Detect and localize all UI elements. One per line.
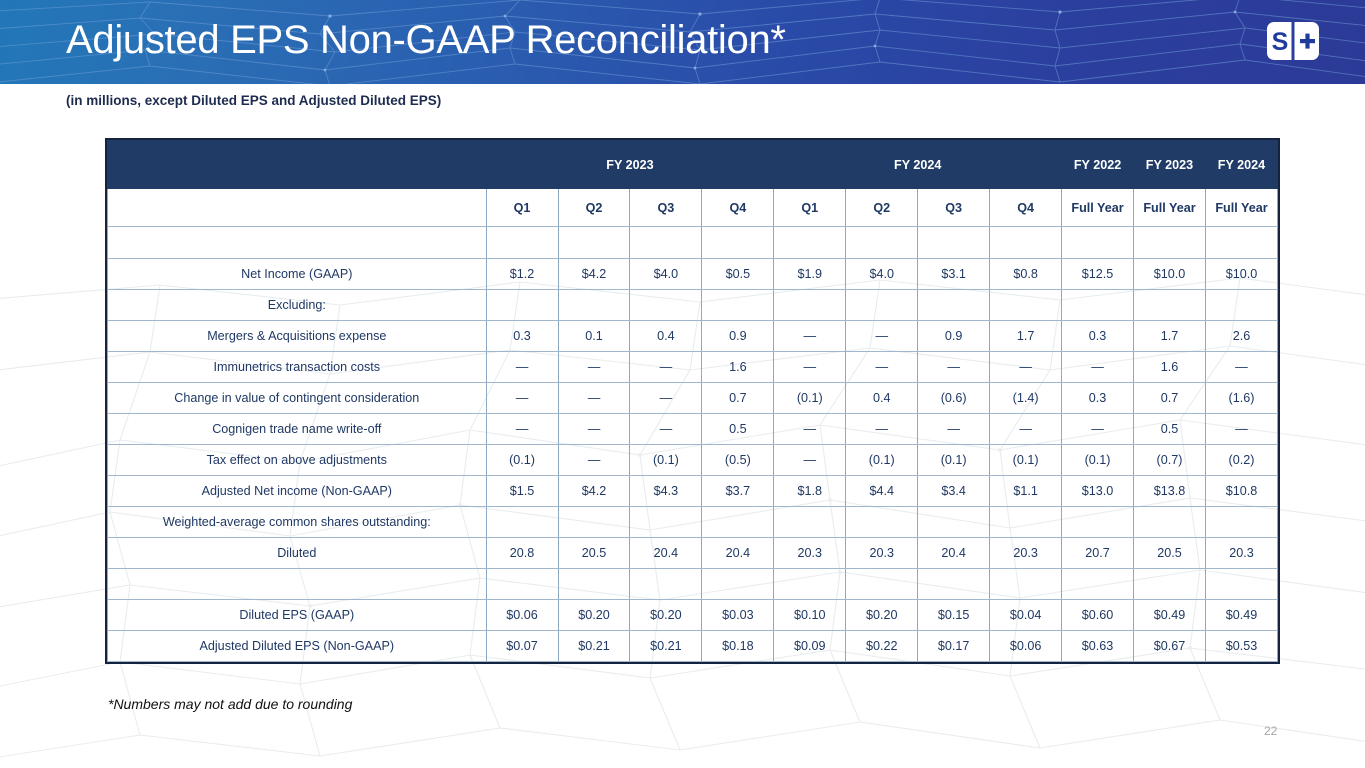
spacer-cell [702,227,774,259]
row-value-cell: $10.8 [1205,476,1277,507]
table-spacer-row [108,227,1278,259]
row-value-cell: — [486,352,558,383]
row-value-cell: $10.0 [1134,259,1206,290]
row-value-cell: — [1205,414,1277,445]
table-row: Diluted20.820.520.420.420.320.320.420.32… [108,538,1278,569]
row-value-cell: — [486,383,558,414]
column-header-cell: Q1 [774,189,846,227]
row-label [108,569,487,600]
row-label: Adjusted Diluted EPS (Non-GAAP) [108,631,487,662]
slide-header-band: Adjusted EPS Non-GAAP Reconciliation* [0,0,1365,84]
table-row: Net Income (GAAP)$1.2$4.2$4.0$0.5$1.9$4.… [108,259,1278,290]
column-header-cell: Full Year [1062,189,1134,227]
row-value-cell [1062,290,1134,321]
row-value-cell: (1.6) [1205,383,1277,414]
row-value-cell: $0.10 [774,600,846,631]
column-header-cell: Q3 [630,189,702,227]
row-value-cell: $1.1 [990,476,1062,507]
row-value-cell [990,290,1062,321]
row-value-cell: 1.6 [702,352,774,383]
row-value-cell: 0.4 [630,321,702,352]
spacer-cell [108,227,487,259]
row-value-cell: $4.0 [630,259,702,290]
row-label: Mergers & Acquisitions expense [108,321,487,352]
row-value-cell: $4.2 [558,259,630,290]
row-value-cell [558,290,630,321]
row-value-cell: 0.3 [1062,383,1134,414]
table-row [108,569,1278,600]
page-number: 22 [1264,724,1277,738]
row-value-cell: 0.3 [486,321,558,352]
row-value-cell [1134,290,1206,321]
row-value-cell [990,507,1062,538]
row-value-cell: (0.7) [1134,445,1206,476]
row-value-cell [1062,569,1134,600]
row-value-cell [1062,507,1134,538]
row-value-cell: $3.1 [918,259,990,290]
spacer-cell [846,227,918,259]
row-value-cell: $1.9 [774,259,846,290]
table-row: Weighted-average common shares outstandi… [108,507,1278,538]
row-value-cell: $1.8 [774,476,846,507]
row-value-cell: — [558,352,630,383]
svg-text:S: S [1272,28,1289,56]
row-value-cell: $0.18 [702,631,774,662]
row-value-cell: $4.2 [558,476,630,507]
table-row: Diluted EPS (GAAP)$0.06$0.20$0.20$0.03$0… [108,600,1278,631]
row-value-cell: $0.22 [846,631,918,662]
row-value-cell: $13.0 [1062,476,1134,507]
row-value-cell: $0.20 [630,600,702,631]
row-value-cell: 20.8 [486,538,558,569]
row-label: Excluding: [108,290,487,321]
row-value-cell: $4.0 [846,259,918,290]
row-value-cell: $0.21 [558,631,630,662]
row-value-cell: $0.06 [990,631,1062,662]
row-value-cell [1205,569,1277,600]
row-value-cell [1134,507,1206,538]
row-value-cell: 1.6 [1134,352,1206,383]
row-value-cell: $0.21 [630,631,702,662]
row-value-cell: — [774,352,846,383]
row-label: Adjusted Net income (Non-GAAP) [108,476,487,507]
row-value-cell: (0.6) [918,383,990,414]
row-value-cell: (0.1) [630,445,702,476]
group-header-cell: FY 2024 [774,141,1062,189]
row-value-cell [630,507,702,538]
spacer-cell [558,227,630,259]
row-value-cell: $0.17 [918,631,990,662]
slide-subtitle: (in millions, except Diluted EPS and Adj… [66,93,441,108]
row-value-cell: 20.7 [1062,538,1134,569]
row-value-cell: $0.67 [1134,631,1206,662]
row-value-cell: $0.09 [774,631,846,662]
row-value-cell [846,507,918,538]
row-value-cell: — [558,383,630,414]
row-value-cell: $0.49 [1134,600,1206,631]
row-value-cell: 0.5 [702,414,774,445]
column-header-blank [108,189,487,227]
row-value-cell [702,507,774,538]
group-header-cell: FY 2024 [1205,141,1277,189]
row-value-cell: — [846,414,918,445]
row-value-cell: 0.3 [1062,321,1134,352]
row-value-cell [774,507,846,538]
column-header-cell: Q2 [846,189,918,227]
row-value-cell: — [1062,414,1134,445]
row-value-cell [630,290,702,321]
footnote: *Numbers may not add due to rounding [108,696,352,712]
spacer-cell [990,227,1062,259]
row-value-cell: — [630,383,702,414]
row-value-cell: (0.1) [1062,445,1134,476]
row-value-cell: 2.6 [1205,321,1277,352]
row-value-cell: — [918,352,990,383]
spacer-cell [486,227,558,259]
row-value-cell: $0.8 [990,259,1062,290]
row-value-cell: (1.4) [990,383,1062,414]
row-value-cell: — [1062,352,1134,383]
table-row: Immunetrics transaction costs———1.6—————… [108,352,1278,383]
row-value-cell: 20.5 [1134,538,1206,569]
row-value-cell: $0.06 [486,600,558,631]
row-value-cell: 0.5 [1134,414,1206,445]
row-value-cell: (0.1) [774,383,846,414]
row-value-cell [918,290,990,321]
row-value-cell: 0.7 [1134,383,1206,414]
row-value-cell: 20.4 [702,538,774,569]
row-value-cell: $0.53 [1205,631,1277,662]
row-value-cell [486,290,558,321]
row-value-cell: (0.2) [1205,445,1277,476]
row-value-cell [1205,507,1277,538]
row-value-cell: 1.7 [990,321,1062,352]
row-value-cell [630,569,702,600]
row-value-cell [774,569,846,600]
table-row: Adjusted Net income (Non-GAAP)$1.5$4.2$4… [108,476,1278,507]
row-value-cell: 20.4 [918,538,990,569]
row-value-cell: $12.5 [1062,259,1134,290]
column-header-cell: Full Year [1134,189,1206,227]
group-header-cell: FY 2022 [1062,141,1134,189]
group-header-blank [108,141,487,189]
row-value-cell: $1.5 [486,476,558,507]
row-value-cell: — [558,414,630,445]
row-value-cell: $0.07 [486,631,558,662]
spacer-cell [1205,227,1277,259]
spacer-cell [630,227,702,259]
row-label: Diluted [108,538,487,569]
row-value-cell: $0.5 [702,259,774,290]
row-value-cell: 20.3 [846,538,918,569]
row-label: Cognigen trade name write-off [108,414,487,445]
s-plus-logo-icon: S [1265,20,1321,62]
spacer-cell [918,227,990,259]
row-value-cell [486,507,558,538]
row-value-cell: (0.1) [918,445,990,476]
spacer-cell [774,227,846,259]
row-value-cell: — [846,352,918,383]
row-value-cell: $3.7 [702,476,774,507]
row-value-cell: 0.9 [702,321,774,352]
column-header-cell: Q2 [558,189,630,227]
row-value-cell: 20.4 [630,538,702,569]
row-label: Diluted EPS (GAAP) [108,600,487,631]
row-value-cell: $0.20 [846,600,918,631]
row-value-cell: 20.3 [774,538,846,569]
row-value-cell: — [486,414,558,445]
row-value-cell: $0.60 [1062,600,1134,631]
row-value-cell [558,507,630,538]
row-value-cell [486,569,558,600]
row-value-cell: — [918,414,990,445]
row-value-cell: — [990,414,1062,445]
row-value-cell: 1.7 [1134,321,1206,352]
row-value-cell: — [558,445,630,476]
table-row: Mergers & Acquisitions expense0.30.10.40… [108,321,1278,352]
row-value-cell: (0.1) [846,445,918,476]
row-value-cell: 20.3 [990,538,1062,569]
row-value-cell: — [630,414,702,445]
row-label: Change in value of contingent considerat… [108,383,487,414]
row-value-cell [702,290,774,321]
group-header-cell: FY 2023 [1134,141,1206,189]
row-value-cell: $0.04 [990,600,1062,631]
column-header-cell: Q4 [702,189,774,227]
row-value-cell: $0.20 [558,600,630,631]
row-value-cell: — [774,414,846,445]
table-row: Change in value of contingent considerat… [108,383,1278,414]
row-value-cell [1134,569,1206,600]
row-value-cell: $1.2 [486,259,558,290]
column-header-cell: Q4 [990,189,1062,227]
row-label: Weighted-average common shares outstandi… [108,507,487,538]
row-value-cell: — [846,321,918,352]
row-value-cell: 0.7 [702,383,774,414]
table-column-header-row: Q1Q2Q3Q4Q1Q2Q3Q4Full YearFull YearFull Y… [108,189,1278,227]
row-value-cell: 0.4 [846,383,918,414]
row-label: Immunetrics transaction costs [108,352,487,383]
row-value-cell [774,290,846,321]
row-value-cell [1205,290,1277,321]
group-header-cell: FY 2023 [486,141,774,189]
row-value-cell: (0.5) [702,445,774,476]
column-header-cell: Q3 [918,189,990,227]
row-value-cell: $4.4 [846,476,918,507]
row-value-cell: $4.3 [630,476,702,507]
page-title: Adjusted EPS Non-GAAP Reconciliation* [66,18,786,63]
row-value-cell [702,569,774,600]
row-value-cell: — [774,445,846,476]
row-value-cell: $13.8 [1134,476,1206,507]
row-value-cell: — [1205,352,1277,383]
row-value-cell: 20.5 [558,538,630,569]
row-value-cell: $0.63 [1062,631,1134,662]
row-value-cell: (0.1) [990,445,1062,476]
row-value-cell [918,507,990,538]
spacer-cell [1134,227,1206,259]
row-value-cell: — [990,352,1062,383]
row-value-cell [918,569,990,600]
row-value-cell: 20.3 [1205,538,1277,569]
row-label: Net Income (GAAP) [108,259,487,290]
table-group-header-row: FY 2023FY 2024FY 2022FY 2023FY 2024 [108,141,1278,189]
row-value-cell [846,569,918,600]
eps-reconciliation-table: FY 2023FY 2024FY 2022FY 2023FY 2024Q1Q2Q… [107,140,1278,662]
row-value-cell: — [630,352,702,383]
row-value-cell: $0.03 [702,600,774,631]
row-value-cell: $10.0 [1205,259,1277,290]
row-value-cell: $0.15 [918,600,990,631]
table-row: Adjusted Diluted EPS (Non-GAAP)$0.07$0.2… [108,631,1278,662]
row-value-cell: 0.9 [918,321,990,352]
spacer-cell [1062,227,1134,259]
row-label: Tax effect on above adjustments [108,445,487,476]
table-row: Excluding: [108,290,1278,321]
table-row: Tax effect on above adjustments(0.1)—(0.… [108,445,1278,476]
column-header-cell: Q1 [486,189,558,227]
table-row: Cognigen trade name write-off———0.5—————… [108,414,1278,445]
financial-table-container: FY 2023FY 2024FY 2022FY 2023FY 2024Q1Q2Q… [105,138,1280,664]
row-value-cell: 0.1 [558,321,630,352]
row-value-cell: $0.49 [1205,600,1277,631]
row-value-cell: $3.4 [918,476,990,507]
row-value-cell: (0.1) [486,445,558,476]
row-value-cell [846,290,918,321]
row-value-cell: — [774,321,846,352]
row-value-cell [990,569,1062,600]
row-value-cell [558,569,630,600]
column-header-cell: Full Year [1205,189,1277,227]
